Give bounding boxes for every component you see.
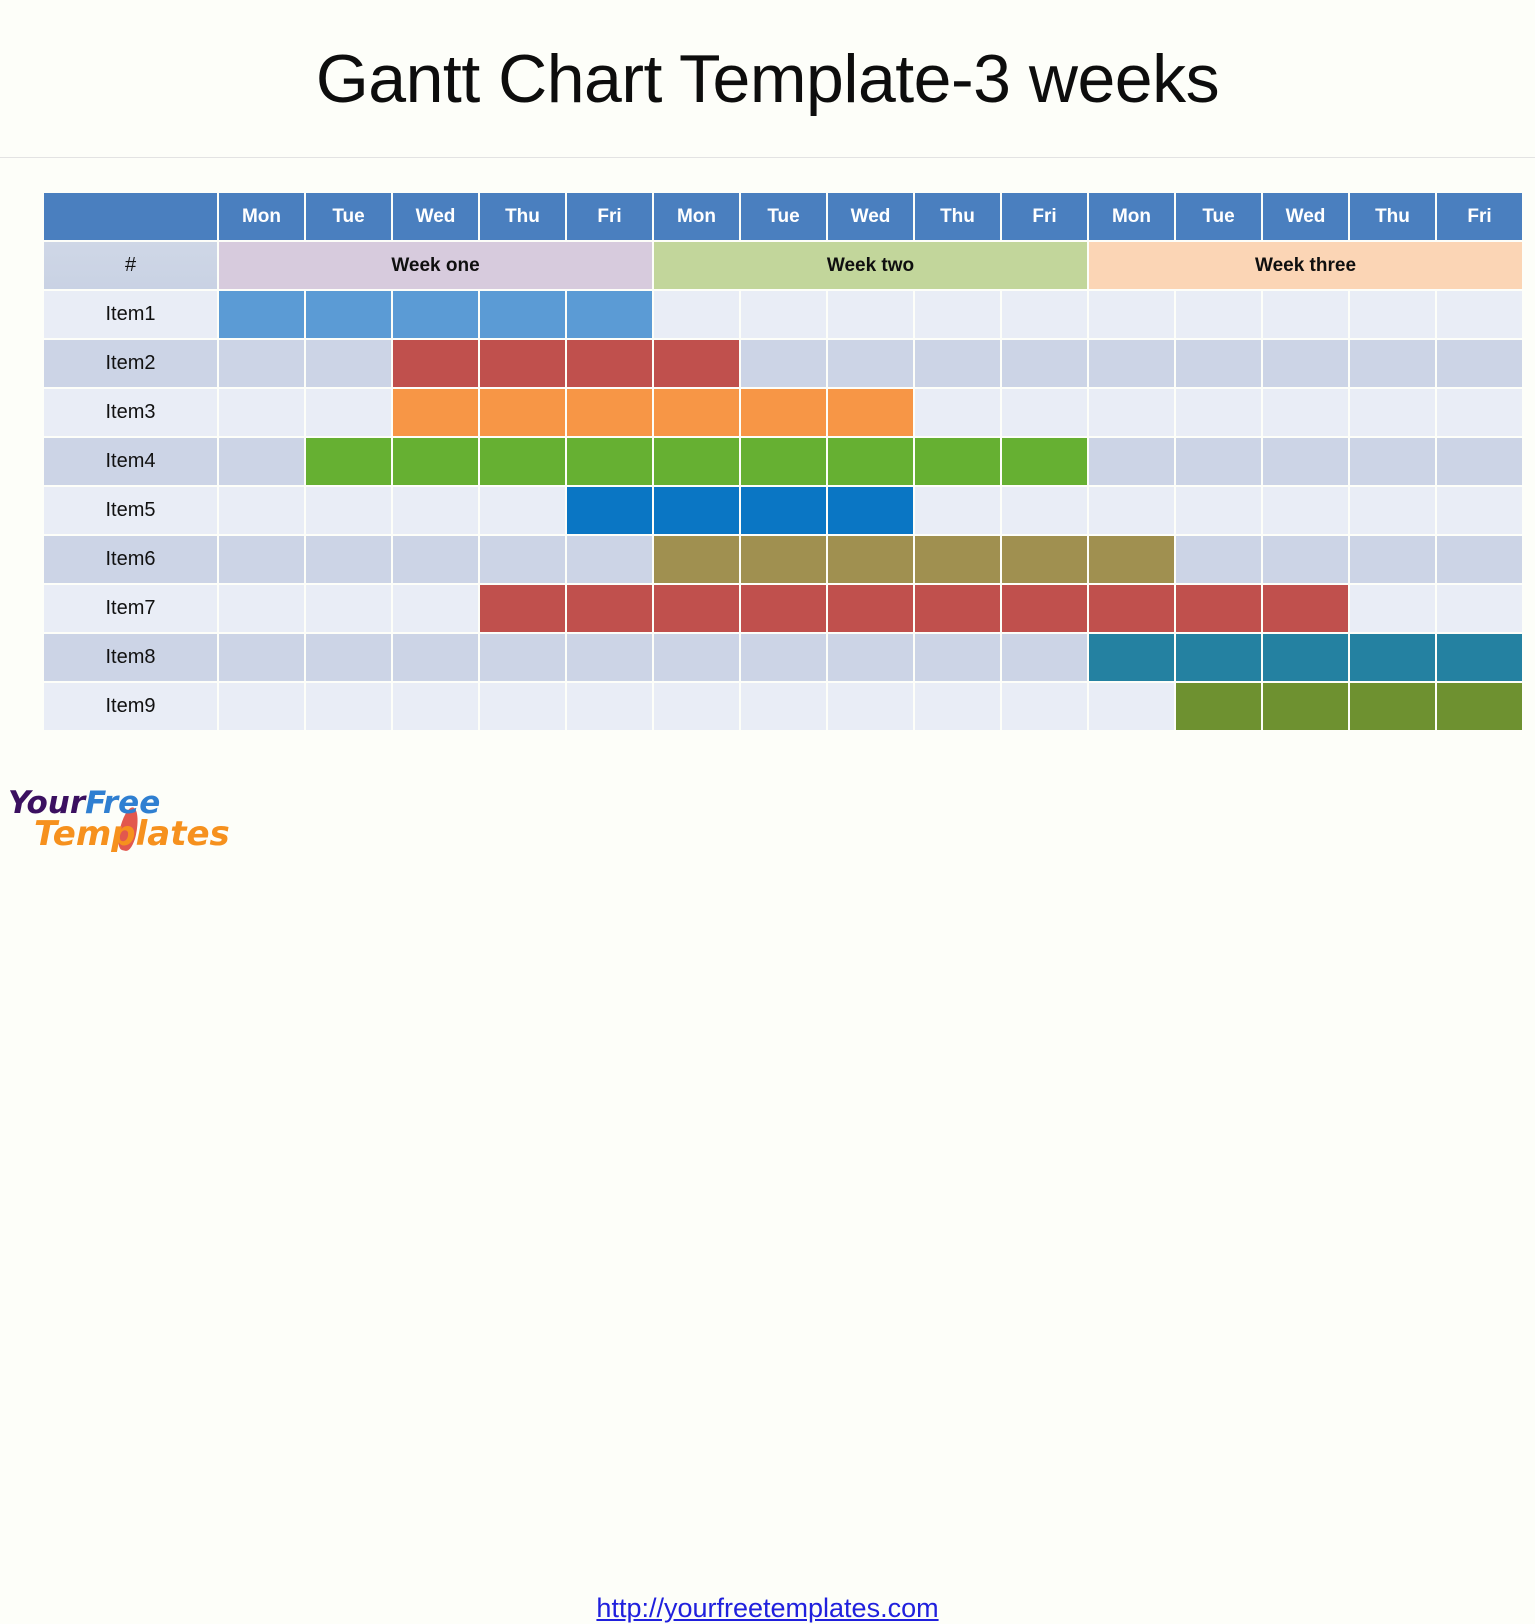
gantt-bar-segment[interactable] (915, 536, 1000, 583)
gantt-bar-segment[interactable] (480, 585, 565, 632)
gantt-bar-segment[interactable] (741, 389, 826, 436)
gantt-empty-cell[interactable] (306, 487, 391, 534)
gantt-row: Item7 (44, 585, 1522, 632)
gantt-empty-cell[interactable] (741, 340, 826, 387)
week-band-1: Week one (219, 242, 652, 289)
gantt-bar-segment[interactable] (654, 438, 739, 485)
day-header-15: Fri (1437, 193, 1522, 240)
gantt-bar-segment[interactable] (654, 536, 739, 583)
day-header-14: Thu (1350, 193, 1435, 240)
footer: YourFree Templates http://yourfreetempla… (0, 770, 1535, 863)
gantt-row: Item6 (44, 536, 1522, 583)
gantt-empty-cell[interactable] (1437, 536, 1522, 583)
gantt-empty-cell[interactable] (1176, 536, 1261, 583)
gantt-empty-cell[interactable] (1002, 291, 1087, 338)
gantt-row: Item3 (44, 389, 1522, 436)
gantt-empty-cell[interactable] (480, 487, 565, 534)
gantt-empty-cell[interactable] (1350, 291, 1435, 338)
gantt-bar-segment[interactable] (828, 389, 913, 436)
gantt-bar-segment[interactable] (828, 438, 913, 485)
gantt-bar-segment[interactable] (1002, 536, 1087, 583)
gantt-empty-cell[interactable] (654, 291, 739, 338)
gantt-bar-segment[interactable] (1437, 634, 1522, 681)
gantt-empty-cell[interactable] (219, 683, 304, 730)
gantt-empty-cell[interactable] (915, 340, 1000, 387)
gantt-bar-segment[interactable] (915, 585, 1000, 632)
day-header-10: Fri (1002, 193, 1087, 240)
gantt-bar-segment[interactable] (480, 389, 565, 436)
gantt-empty-cell[interactable] (219, 536, 304, 583)
gantt-empty-cell[interactable] (219, 438, 304, 485)
gantt-row: Item5 (44, 487, 1522, 534)
gantt-empty-cell[interactable] (1437, 585, 1522, 632)
gantt-empty-cell[interactable] (219, 487, 304, 534)
gantt-row: Item4 (44, 438, 1522, 485)
gantt-chart: MonTueWedThuFriMonTueWedThuFriMonTueWedT… (42, 191, 1492, 732)
gantt-empty-cell[interactable] (393, 536, 478, 583)
gantt-row: Item8 (44, 634, 1522, 681)
day-header-3: Wed (393, 193, 478, 240)
gantt-empty-cell[interactable] (741, 634, 826, 681)
gantt-bar-segment[interactable] (1089, 585, 1174, 632)
gantt-empty-cell[interactable] (1350, 438, 1435, 485)
gantt-empty-cell[interactable] (1263, 487, 1348, 534)
gantt-empty-cell[interactable] (567, 536, 652, 583)
gantt-row: Item1 (44, 291, 1522, 338)
gantt-bar-segment[interactable] (1263, 585, 1348, 632)
gantt-empty-cell[interactable] (219, 389, 304, 436)
gantt-empty-cell[interactable] (219, 634, 304, 681)
task-label-5[interactable]: Item5 (44, 487, 217, 534)
page-title: Gantt Chart Template-3 weeks (316, 40, 1219, 118)
gantt-empty-cell[interactable] (1002, 487, 1087, 534)
gantt-empty-cell[interactable] (219, 585, 304, 632)
gantt-bar-segment[interactable] (1002, 438, 1087, 485)
gantt-bar-segment[interactable] (393, 438, 478, 485)
gantt-bar-segment[interactable] (915, 438, 1000, 485)
gantt-bar-segment[interactable] (1089, 536, 1174, 583)
gantt-empty-cell[interactable] (219, 340, 304, 387)
gantt-empty-cell[interactable] (1350, 389, 1435, 436)
gantt-bar-segment[interactable] (741, 487, 826, 534)
gantt-empty-cell[interactable] (1263, 536, 1348, 583)
week-band-3: Week three (1089, 242, 1522, 289)
gantt-empty-cell[interactable] (393, 487, 478, 534)
gantt-empty-cell[interactable] (1263, 389, 1348, 436)
title-bar: Gantt Chart Template-3 weeks (0, 0, 1535, 158)
gantt-bar-segment[interactable] (306, 291, 391, 338)
task-label-9[interactable]: Item9 (44, 683, 217, 730)
gantt-bar-segment[interactable] (654, 487, 739, 534)
gantt-empty-cell[interactable] (1263, 438, 1348, 485)
gantt-bar-segment[interactable] (480, 291, 565, 338)
gantt-bar-segment[interactable] (828, 487, 913, 534)
gantt-bar-segment[interactable] (741, 536, 826, 583)
gantt-empty-cell[interactable] (915, 487, 1000, 534)
gantt-bar-segment[interactable] (219, 291, 304, 338)
gantt-empty-cell[interactable] (1437, 487, 1522, 534)
day-header-11: Mon (1089, 193, 1174, 240)
gantt-empty-cell[interactable] (480, 634, 565, 681)
gantt-bar-segment[interactable] (393, 340, 478, 387)
day-header-2: Tue (306, 193, 391, 240)
gantt-bar-segment[interactable] (1002, 585, 1087, 632)
gantt-empty-cell[interactable] (1089, 389, 1174, 436)
gantt-empty-cell[interactable] (1089, 438, 1174, 485)
task-label-2[interactable]: Item2 (44, 340, 217, 387)
gantt-bar-segment[interactable] (306, 438, 391, 485)
gantt-bar-segment[interactable] (393, 389, 478, 436)
logo-word-templates: Templates (34, 814, 230, 854)
gantt-bar-segment[interactable] (1176, 634, 1261, 681)
gantt-bar-segment[interactable] (1437, 683, 1522, 730)
gantt-empty-cell[interactable] (306, 683, 391, 730)
gantt-empty-cell[interactable] (828, 683, 913, 730)
day-header-13: Wed (1263, 193, 1348, 240)
day-header-1: Mon (219, 193, 304, 240)
gantt-bar-segment[interactable] (393, 291, 478, 338)
day-header-8: Wed (828, 193, 913, 240)
week-band-2: Week two (654, 242, 1087, 289)
gantt-empty-cell[interactable] (1176, 389, 1261, 436)
gantt-empty-cell[interactable] (1437, 438, 1522, 485)
gantt-empty-cell[interactable] (306, 340, 391, 387)
day-header-7: Tue (741, 193, 826, 240)
gantt-bar-segment[interactable] (1350, 683, 1435, 730)
day-header-12: Tue (1176, 193, 1261, 240)
gantt-bar-segment[interactable] (1089, 634, 1174, 681)
task-label-4[interactable]: Item4 (44, 438, 217, 485)
gantt-empty-cell[interactable] (1176, 438, 1261, 485)
gantt-bar-segment[interactable] (567, 389, 652, 436)
gantt-bar-segment[interactable] (828, 536, 913, 583)
gantt-row: Item2 (44, 340, 1522, 387)
gantt-bar-segment[interactable] (567, 487, 652, 534)
gantt-bar-segment[interactable] (567, 340, 652, 387)
day-header-9: Thu (915, 193, 1000, 240)
gantt-row: Item9 (44, 683, 1522, 730)
gantt-empty-cell[interactable] (1089, 487, 1174, 534)
gantt-empty-cell[interactable] (1002, 340, 1087, 387)
gantt-empty-cell[interactable] (306, 634, 391, 681)
gantt-empty-cell[interactable] (1263, 340, 1348, 387)
task-label-8[interactable]: Item8 (44, 634, 217, 681)
day-header-row: MonTueWedThuFriMonTueWedThuFriMonTueWedT… (44, 193, 1522, 240)
task-label-1[interactable]: Item1 (44, 291, 217, 338)
gantt-empty-cell[interactable] (480, 683, 565, 730)
gantt-bar-segment[interactable] (567, 585, 652, 632)
gantt-empty-cell[interactable] (1176, 487, 1261, 534)
gantt-bar-segment[interactable] (1176, 585, 1261, 632)
logo-line-two: Templates (34, 817, 218, 851)
gantt-bar-segment[interactable] (828, 585, 913, 632)
week-band-row: #Week oneWeek twoWeek three (44, 242, 1522, 289)
gantt-empty-cell[interactable] (306, 536, 391, 583)
gantt-empty-cell[interactable] (828, 340, 913, 387)
gantt-empty-cell[interactable] (306, 585, 391, 632)
gantt-empty-cell[interactable] (654, 683, 739, 730)
row-number-header: # (44, 242, 217, 289)
gantt-empty-cell[interactable] (1089, 291, 1174, 338)
gantt-empty-cell[interactable] (1002, 389, 1087, 436)
corner-header-cell (44, 193, 217, 240)
gantt-bar-segment[interactable] (1263, 683, 1348, 730)
gantt-empty-cell[interactable] (1176, 340, 1261, 387)
site-url-link[interactable]: http://yourfreetemplates.com (0, 1593, 1535, 1624)
gantt-empty-cell[interactable] (393, 683, 478, 730)
gantt-empty-cell[interactable] (393, 585, 478, 632)
task-label-7[interactable]: Item7 (44, 585, 217, 632)
gantt-empty-cell[interactable] (393, 634, 478, 681)
gantt-bar-segment[interactable] (741, 585, 826, 632)
gantt-bar-segment[interactable] (1350, 634, 1435, 681)
day-header-6: Mon (654, 193, 739, 240)
gantt-bar-segment[interactable] (741, 438, 826, 485)
gantt-empty-cell[interactable] (1437, 340, 1522, 387)
day-header-4: Thu (480, 193, 565, 240)
gantt-empty-cell[interactable] (567, 683, 652, 730)
gantt-empty-cell[interactable] (1176, 291, 1261, 338)
gantt-empty-cell[interactable] (741, 291, 826, 338)
task-label-3[interactable]: Item3 (44, 389, 217, 436)
gantt-empty-cell[interactable] (915, 389, 1000, 436)
gantt-empty-cell[interactable] (1263, 291, 1348, 338)
gantt-bar-segment[interactable] (654, 585, 739, 632)
yourfreetemplates-logo: YourFree Templates (8, 788, 218, 860)
gantt-empty-cell[interactable] (1089, 683, 1174, 730)
gantt-empty-cell[interactable] (480, 536, 565, 583)
gantt-empty-cell[interactable] (828, 291, 913, 338)
gantt-empty-cell[interactable] (567, 634, 652, 681)
gantt-bar-segment[interactable] (1176, 683, 1261, 730)
gantt-empty-cell[interactable] (1437, 389, 1522, 436)
gantt-bar-segment[interactable] (567, 291, 652, 338)
gantt-bar-segment[interactable] (480, 340, 565, 387)
gantt-empty-cell[interactable] (741, 683, 826, 730)
gantt-empty-cell[interactable] (915, 634, 1000, 681)
gantt-empty-cell[interactable] (654, 634, 739, 681)
gantt-empty-cell[interactable] (1002, 683, 1087, 730)
gantt-empty-cell[interactable] (1350, 585, 1435, 632)
gantt-table: MonTueWedThuFriMonTueWedThuFriMonTueWedT… (42, 191, 1524, 732)
day-header-5: Fri (567, 193, 652, 240)
gantt-empty-cell[interactable] (1350, 536, 1435, 583)
gantt-empty-cell[interactable] (1350, 487, 1435, 534)
gantt-empty-cell[interactable] (306, 389, 391, 436)
gantt-bar-segment[interactable] (654, 340, 739, 387)
gantt-empty-cell[interactable] (915, 291, 1000, 338)
gantt-empty-cell[interactable] (828, 634, 913, 681)
gantt-empty-cell[interactable] (1089, 340, 1174, 387)
gantt-empty-cell[interactable] (1437, 291, 1522, 338)
gantt-bar-segment[interactable] (567, 438, 652, 485)
gantt-bar-segment[interactable] (1263, 634, 1348, 681)
task-label-6[interactable]: Item6 (44, 536, 217, 583)
gantt-bar-segment[interactable] (654, 389, 739, 436)
gantt-empty-cell[interactable] (1350, 340, 1435, 387)
gantt-empty-cell[interactable] (915, 683, 1000, 730)
gantt-bar-segment[interactable] (480, 438, 565, 485)
gantt-empty-cell[interactable] (1002, 634, 1087, 681)
